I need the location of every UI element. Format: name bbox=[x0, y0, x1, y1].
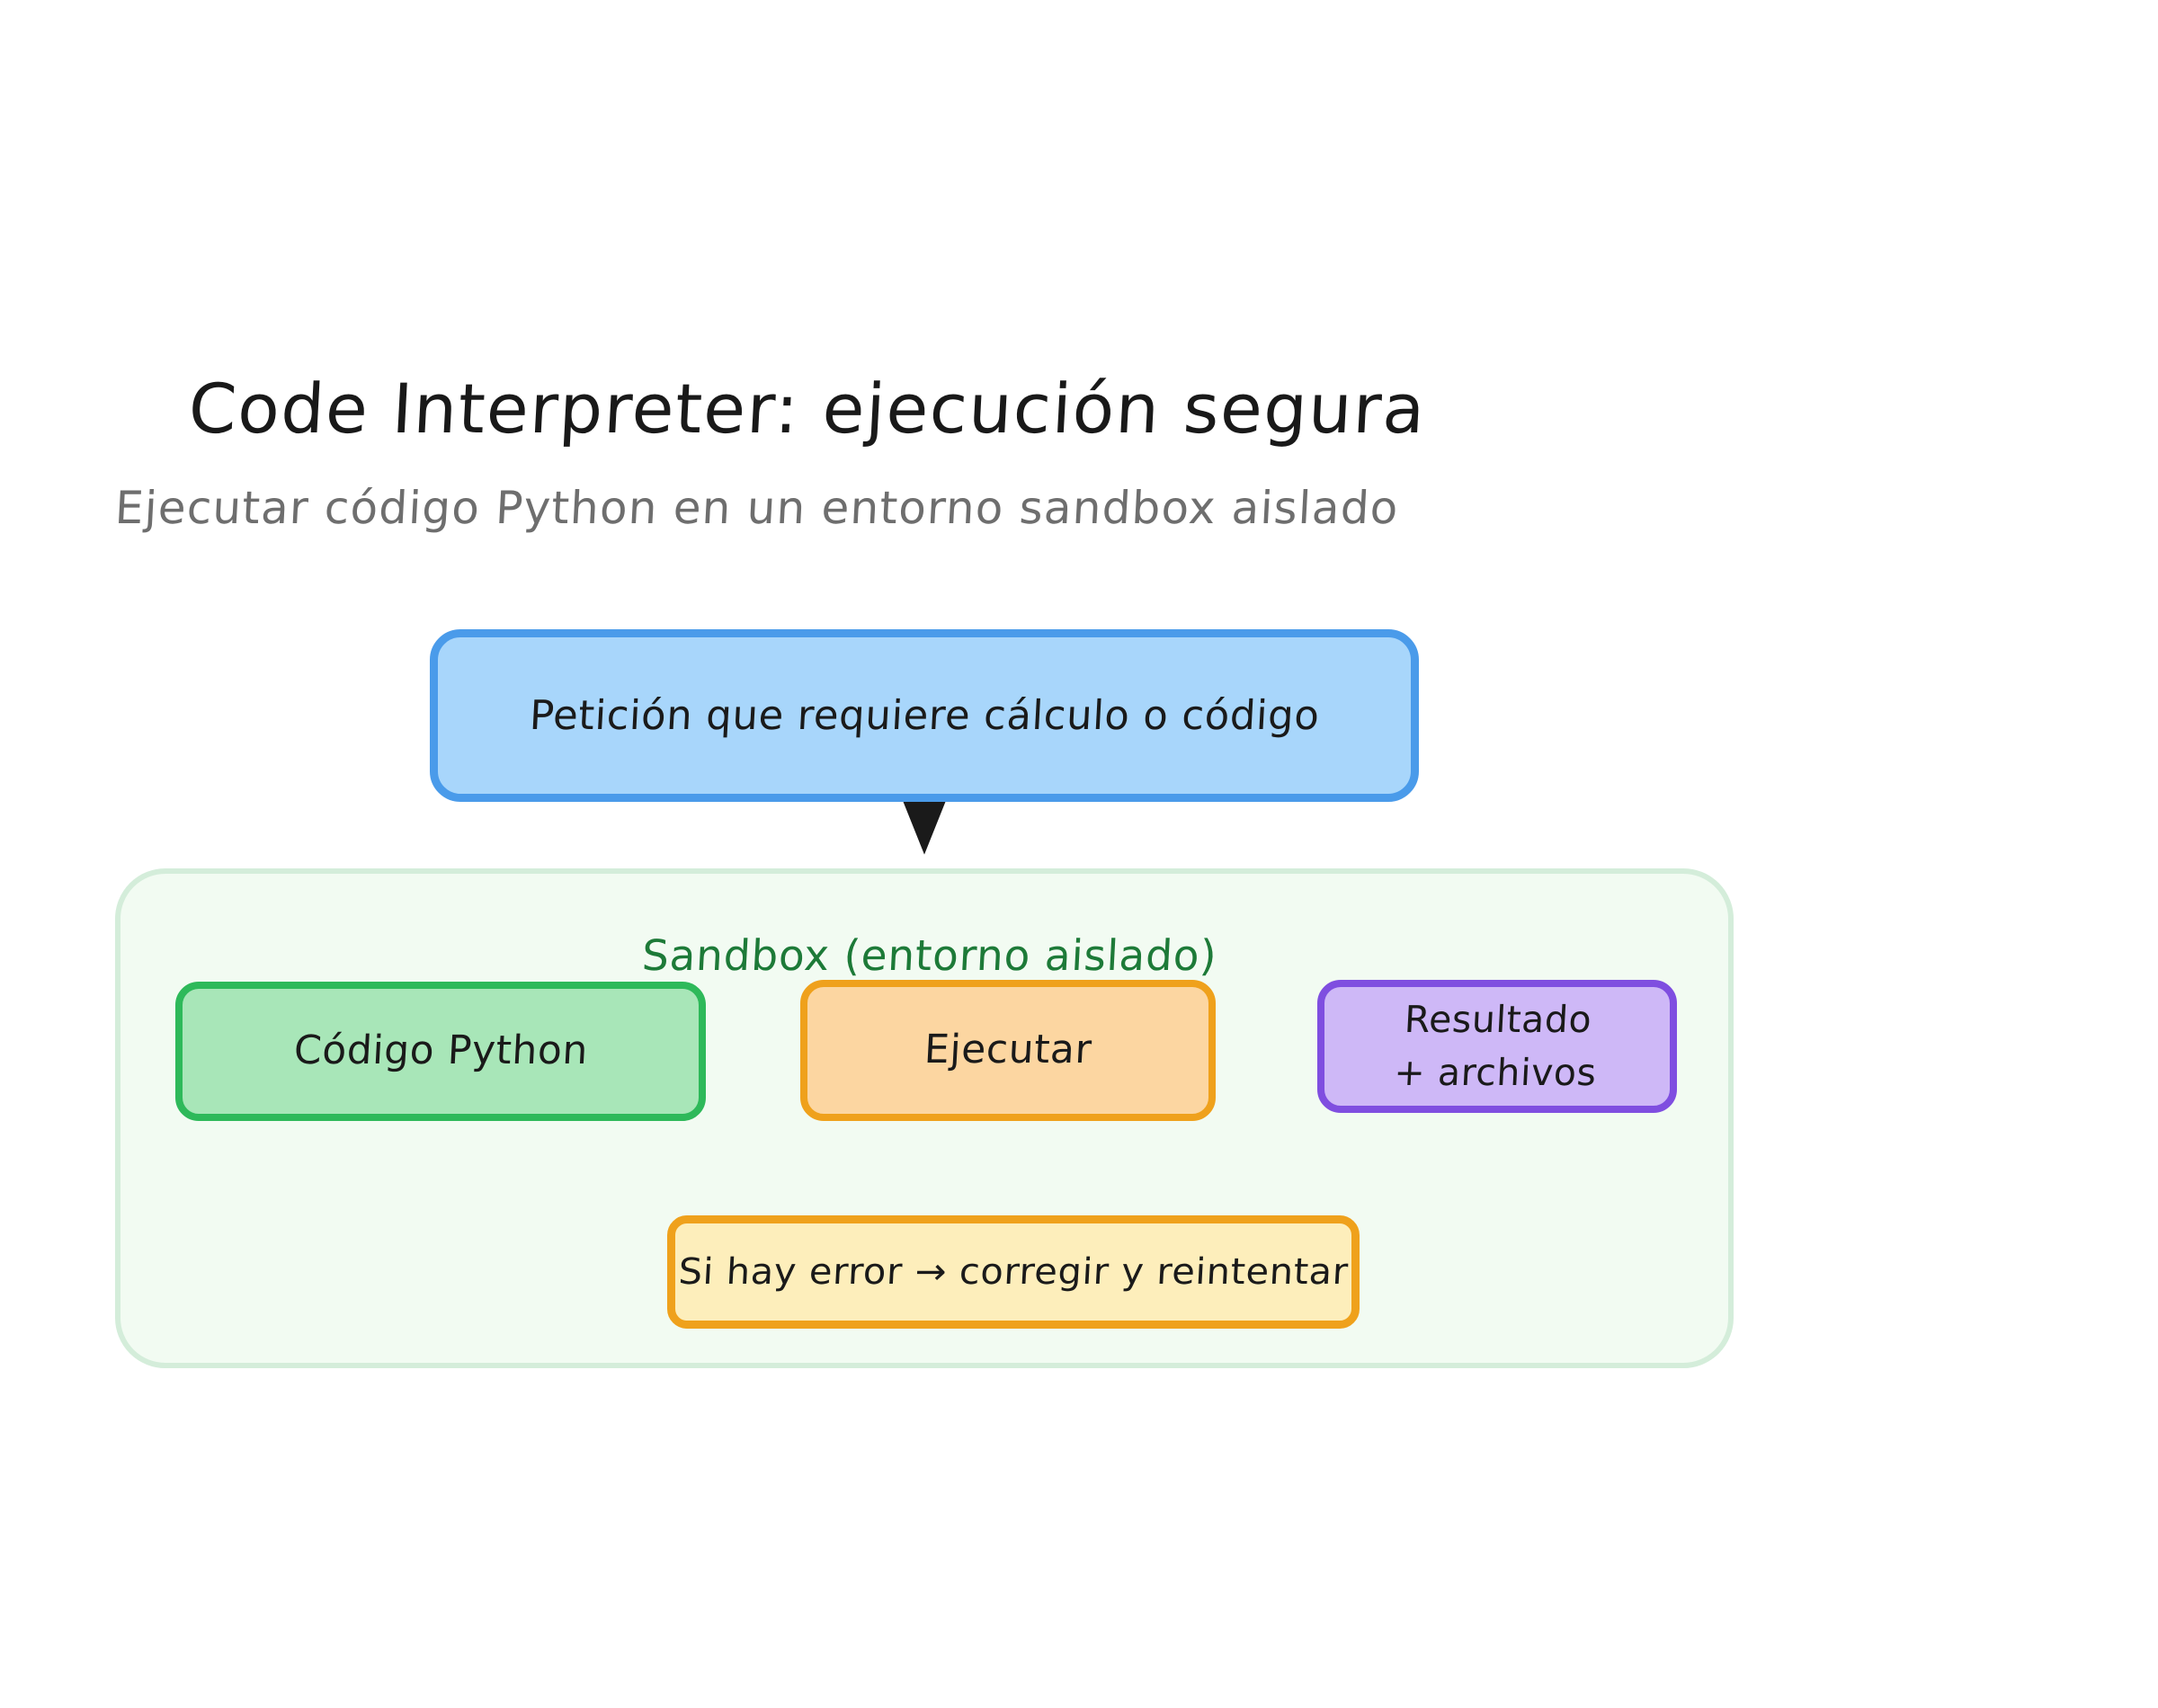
node-retry-label: Si hay error → corregir y reintentar bbox=[677, 1249, 1350, 1296]
node-resultado-label: Resultado + archivos bbox=[1393, 993, 1601, 1100]
node-codigo-python-label: Código Python bbox=[292, 1025, 589, 1077]
diagram-canvas bbox=[0, 0, 2158, 1708]
node-resultado[interactable]: Resultado + archivos bbox=[1317, 980, 1677, 1113]
node-resultado-line1: Resultado bbox=[1404, 998, 1593, 1041]
node-request-label: Petición que requiere cálculo o código bbox=[528, 689, 1321, 742]
page-subtitle: Ejecutar código Python en un entorno san… bbox=[113, 482, 1824, 534]
node-codigo-python[interactable]: Código Python bbox=[175, 982, 706, 1121]
page-title: Code Interpreter: ejecución segura bbox=[187, 369, 1900, 449]
sandbox-container-label: Sandbox (entorno aislado) bbox=[120, 931, 1739, 981]
node-resultado-line2: + archivos bbox=[1394, 1051, 1599, 1094]
node-ejecutar[interactable]: Ejecutar bbox=[800, 980, 1216, 1121]
node-request[interactable]: Petición que requiere cálculo o código bbox=[430, 629, 1419, 802]
node-ejecutar-label: Ejecutar bbox=[923, 1024, 1092, 1076]
node-retry[interactable]: Si hay error → corregir y reintentar bbox=[667, 1215, 1360, 1329]
